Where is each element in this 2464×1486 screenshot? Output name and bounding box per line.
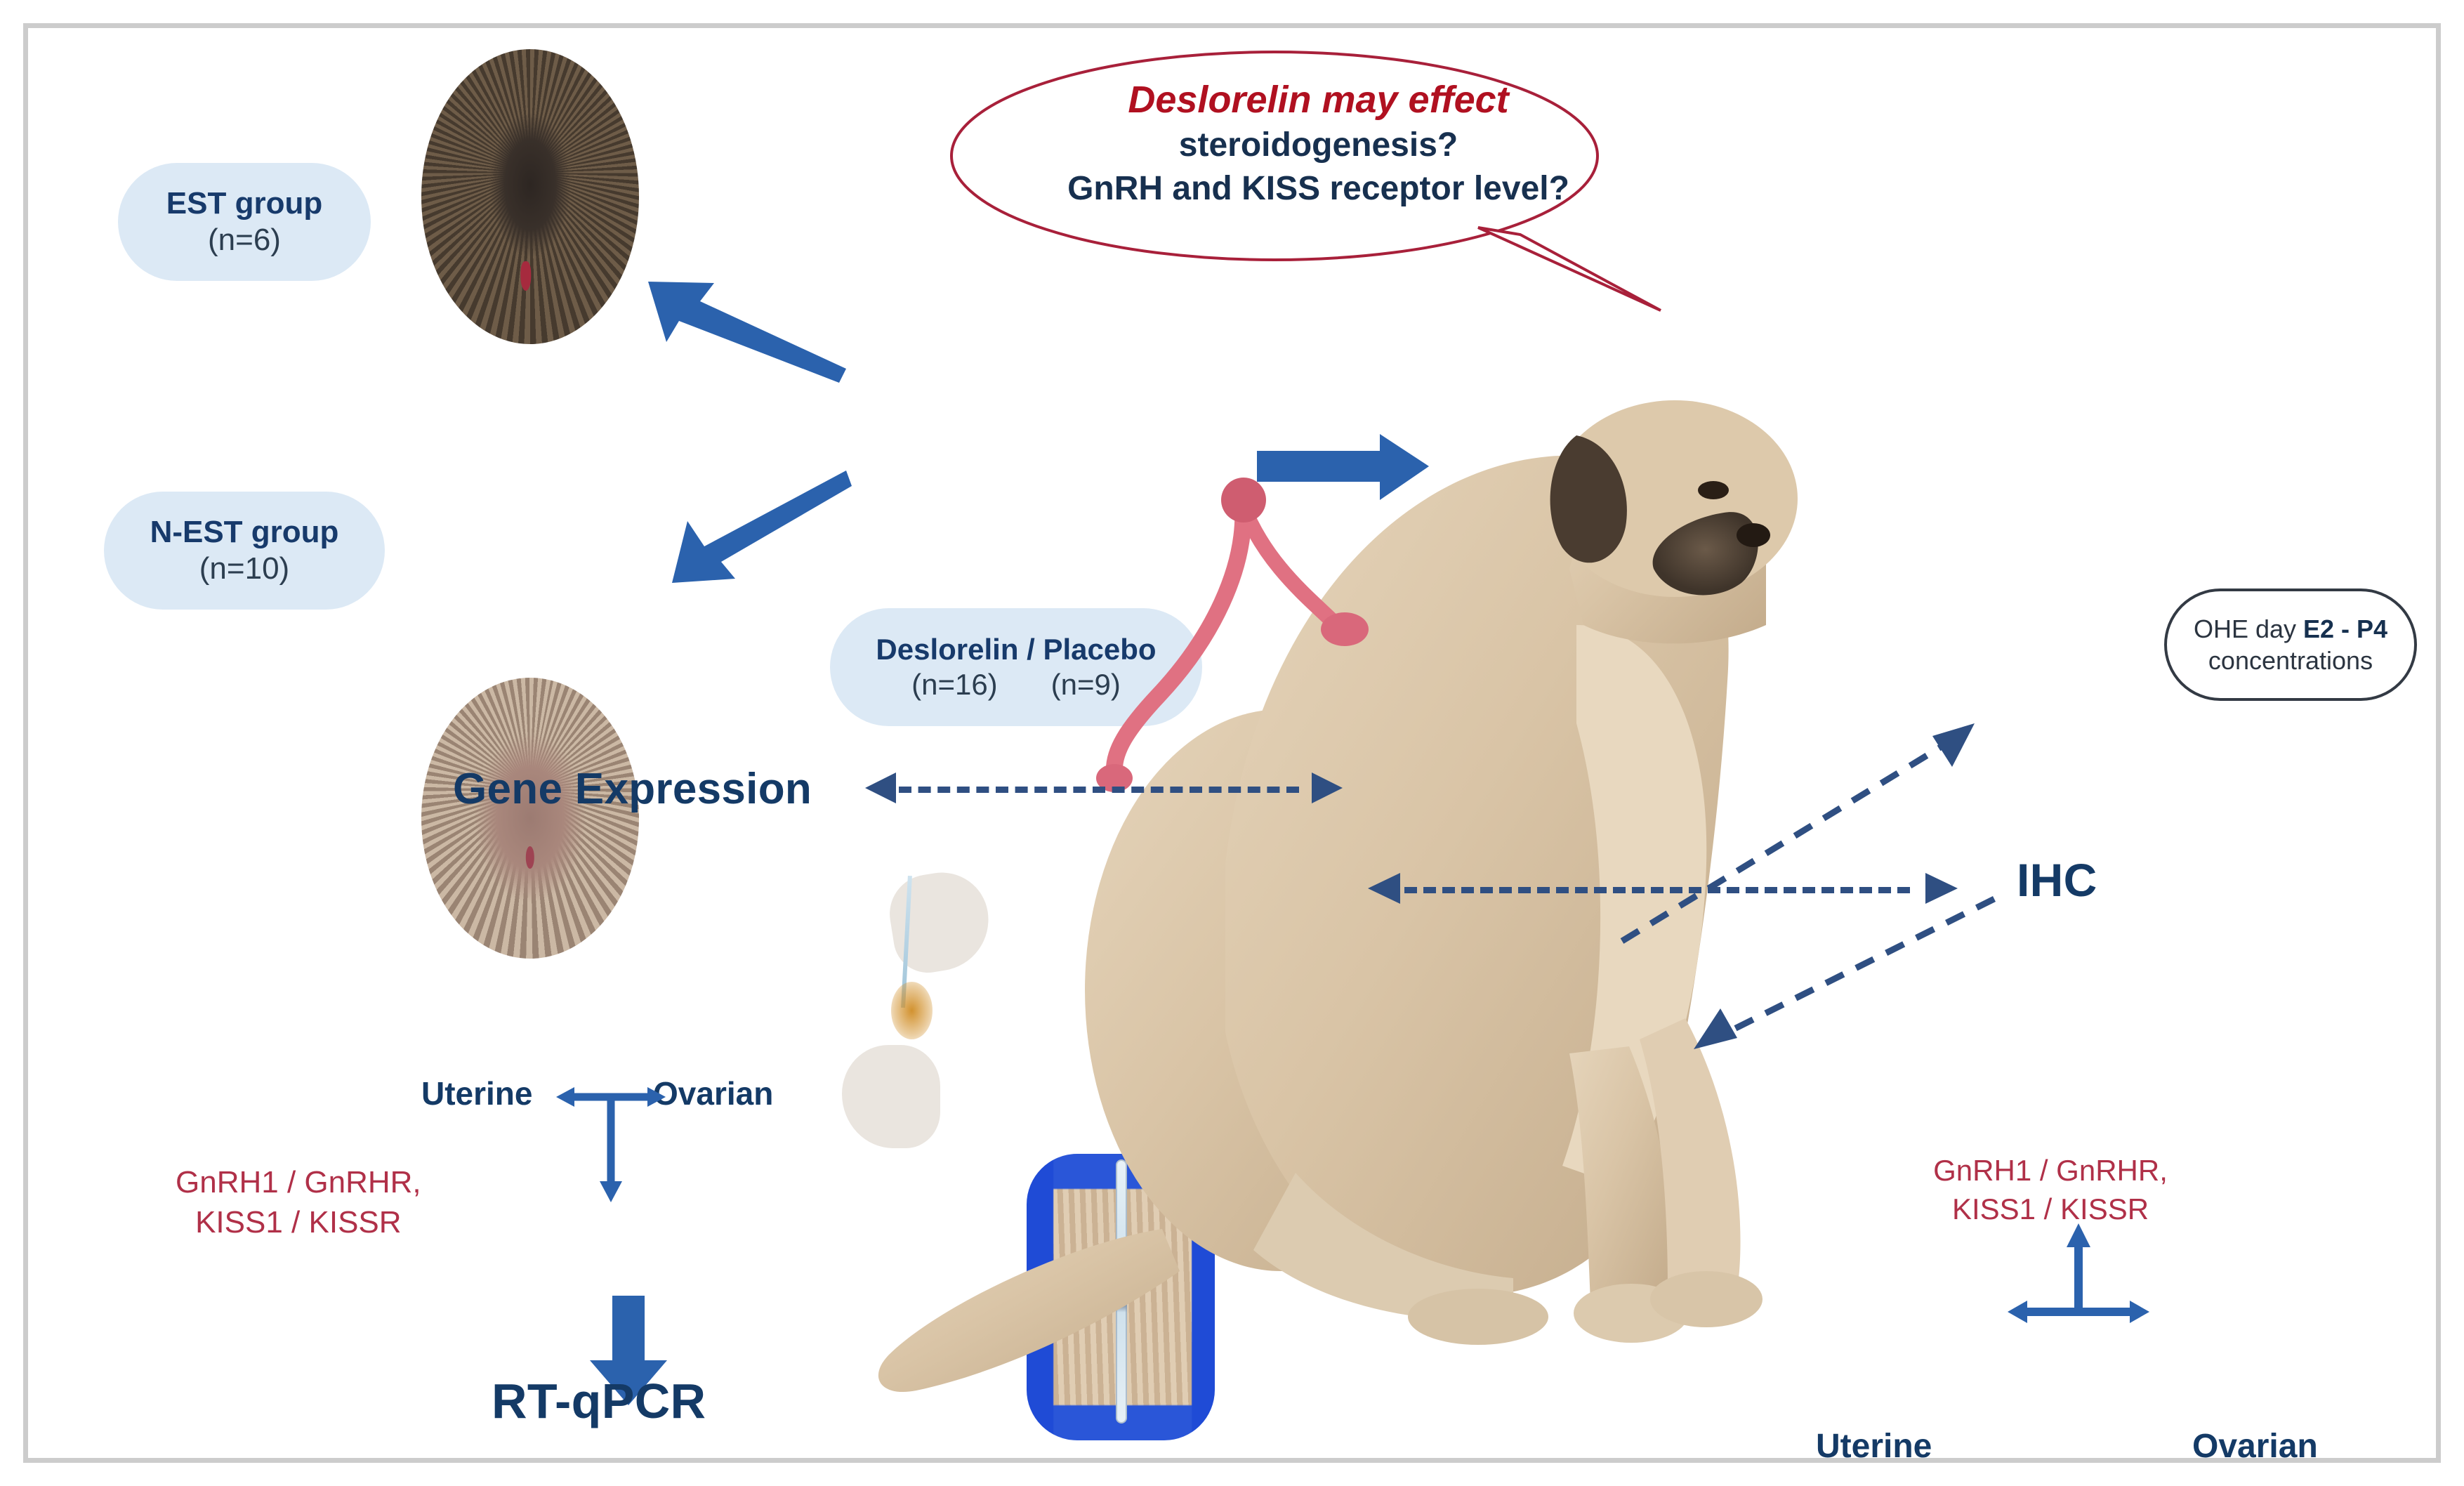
vulva-photo-nest bbox=[421, 678, 639, 959]
graphical-abstract-canvas: EST group (n=6) N-EST group (n=10) Deslo… bbox=[0, 0, 2464, 1486]
ohe-suffix: concentrations bbox=[2208, 645, 2373, 676]
ihc-ovarian-label: Ovarian bbox=[2192, 1427, 2318, 1466]
bubble-line-2: steroidogenesis? bbox=[976, 124, 1661, 167]
rt-qpcr-label: RT-qPCR bbox=[492, 1373, 706, 1429]
ohe-prefix: OHE day bbox=[2194, 614, 2303, 643]
est-group-count: (n=6) bbox=[208, 222, 281, 258]
ohe-hormones: E2 - P4 bbox=[2303, 614, 2387, 643]
ihc-title: IHC bbox=[2017, 853, 2097, 907]
dashed-link-gene-expression-heads bbox=[865, 765, 1343, 810]
ihc-tissue-link-arrows bbox=[2005, 1222, 2152, 1348]
nest-group-title: N-EST group bbox=[150, 514, 339, 551]
nest-group-count: (n=10) bbox=[199, 551, 289, 587]
arrow-to-est-group bbox=[635, 277, 846, 390]
tissue-link-arrows-left bbox=[555, 1067, 667, 1208]
gene-expression-title: Gene Expression bbox=[453, 764, 812, 814]
bubble-line-1: Deslorelin may effect bbox=[976, 77, 1661, 124]
ohe-line-1: OHE day E2 - P4 bbox=[2194, 613, 2387, 645]
ge-genes-line-1: GnRH1 / GnRHR, bbox=[176, 1162, 421, 1202]
ihc-uterine-label: Uterine bbox=[1816, 1427, 1932, 1466]
bubble-line-3: GnRH and KISS receptor level? bbox=[976, 167, 1661, 211]
gene-expression-genes: GnRH1 / GnRHR, KISS1 / KISSR bbox=[176, 1162, 421, 1242]
nest-group-pill: N-EST group (n=10) bbox=[104, 492, 385, 610]
bubble-text: Deslorelin may effect steroidogenesis? G… bbox=[976, 77, 1661, 211]
ihc-genes: GnRH1 / GnRHR, KISS1 / KISSR bbox=[1896, 1152, 2205, 1228]
ge-genes-line-2: KISS1 / KISSR bbox=[176, 1202, 421, 1242]
gene-expression-ovarian-label: Ovarian bbox=[653, 1074, 773, 1112]
est-group-pill: EST group (n=6) bbox=[118, 163, 371, 281]
gene-expression-uterine-label: Uterine bbox=[421, 1074, 532, 1112]
ihc-genes-line-1: GnRH1 / GnRHR, bbox=[1896, 1152, 2205, 1190]
dashed-link-to-ihc-sections bbox=[1685, 892, 2001, 1053]
est-group-title: EST group bbox=[166, 185, 322, 222]
arrow-to-nest-group bbox=[671, 463, 853, 590]
vulva-photo-est bbox=[421, 49, 639, 344]
ohe-concentration-box: OHE day E2 - P4 concentrations bbox=[2164, 589, 2417, 701]
